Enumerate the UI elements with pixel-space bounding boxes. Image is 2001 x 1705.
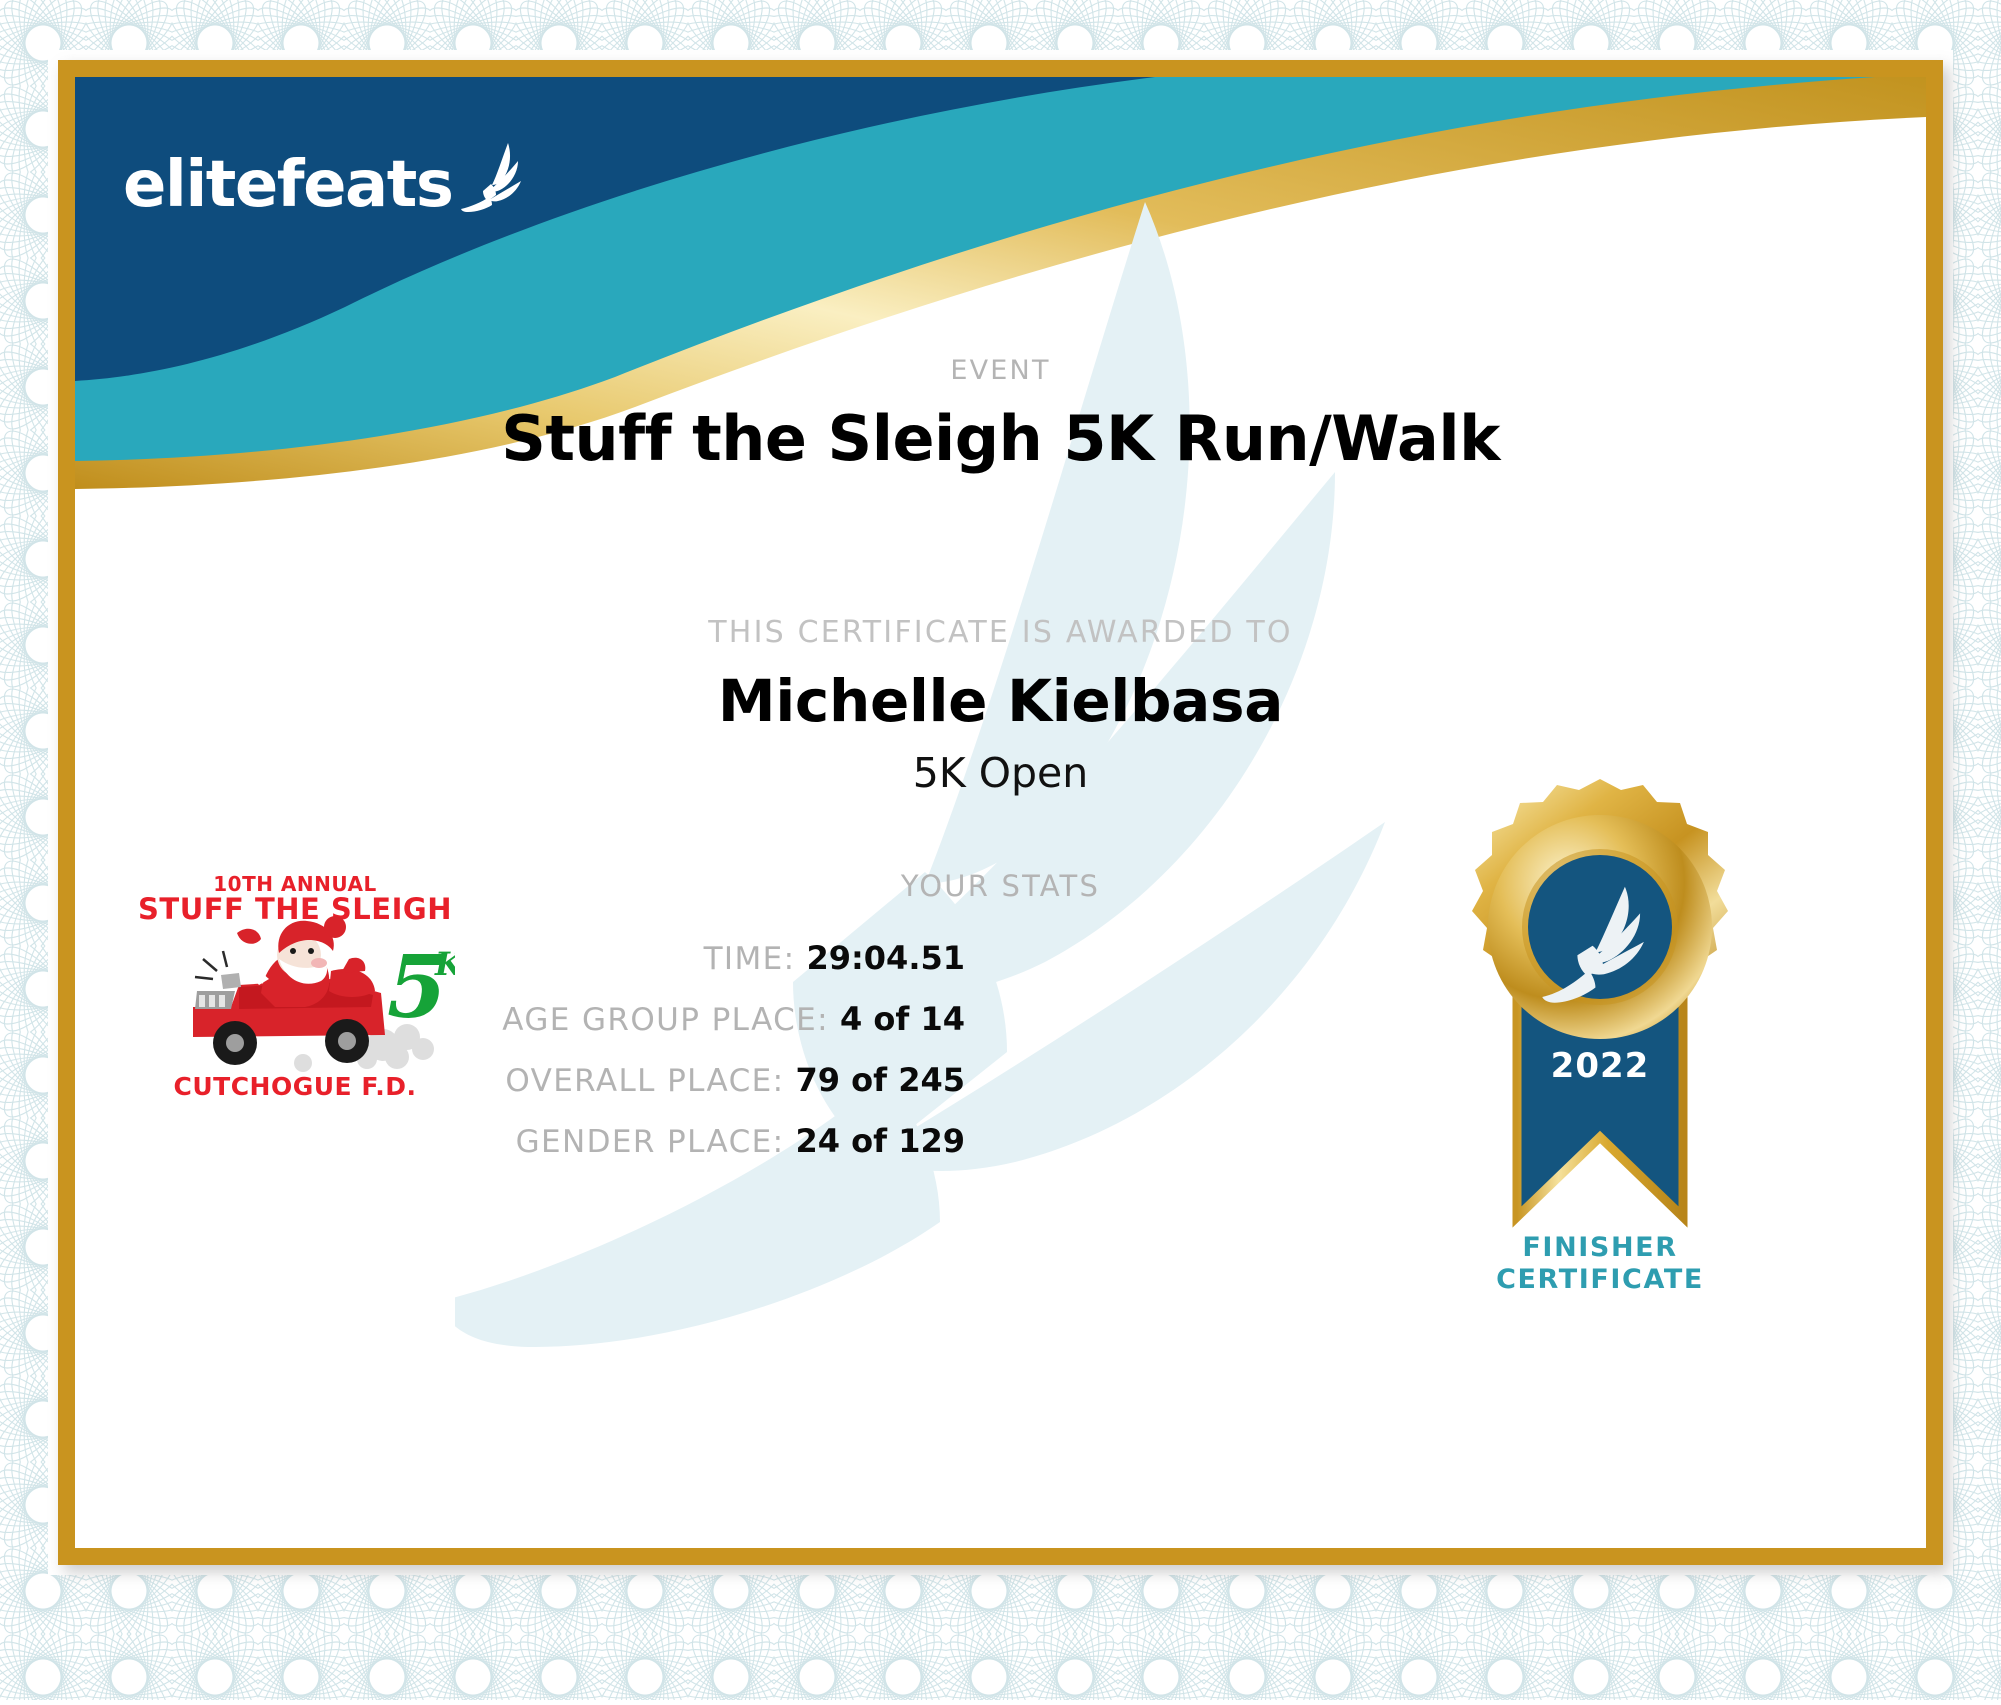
medal-year-text: 2022 [1551, 1046, 1650, 1086]
light-flash-icon [195, 951, 227, 979]
recipient-name: Michelle Kielbasa [75, 667, 1926, 735]
stat-label-time: TIME: [704, 941, 796, 977]
stat-row-overall-place: OVERALL PLACE: 79 of 245 [405, 1061, 965, 1099]
awarded-to-label: THIS CERTIFICATE IS AWARDED TO [75, 615, 1926, 650]
certificate-frame: elitefeats EVEN [58, 60, 1943, 1565]
finisher-caption-line2: CERTIFICATE [1455, 1264, 1745, 1296]
stat-value-age-group-place: 4 of 14 [840, 1000, 965, 1038]
brand-name: elitefeats [123, 153, 452, 217]
certificate-content: EVENT Stuff the Sleigh 5K Run/Walk THIS … [75, 77, 1926, 1548]
medal-starburst [1472, 779, 1728, 1039]
stat-row-time: TIME: 29:04.51 [405, 939, 965, 977]
race-logo-org-text: CUTCHOGUE F.D. [174, 1072, 417, 1101]
event-title: Stuff the Sleigh 5K Run/Walk [75, 402, 1926, 475]
stat-value-gender-place: 24 of 129 [795, 1122, 965, 1160]
stat-label-age-group-place: AGE GROUP PLACE: [502, 1002, 829, 1038]
stat-label-overall-place: OVERALL PLACE: [505, 1063, 784, 1099]
stats-list: TIME: 29:04.51 AGE GROUP PLACE: 4 of 14 … [405, 939, 965, 1183]
winged-foot-icon [458, 139, 528, 217]
stat-label-gender-place: GENDER PLACE: [516, 1124, 785, 1160]
certificate-paper: elitefeats EVEN [75, 77, 1926, 1548]
stat-row-gender-place: GENDER PLACE: 24 of 129 [405, 1122, 965, 1160]
event-label: EVENT [75, 355, 1926, 386]
finisher-caption: FINISHER CERTIFICATE [1455, 1232, 1745, 1296]
stat-value-time: 29:04.51 [806, 939, 965, 977]
stat-value-overall-place: 79 of 245 [795, 1061, 965, 1099]
race-logo-distance-unit-text: K [434, 945, 455, 983]
race-logo-title-text: STUFF THE SLEIGH [138, 892, 452, 926]
stat-row-age-group-place: AGE GROUP PLACE: 4 of 14 [405, 1000, 965, 1038]
race-event-logo: 10TH ANNUAL STUFF THE SLEIGH 5 K [135, 867, 455, 1107]
finisher-caption-line1: FINISHER [1455, 1232, 1745, 1264]
finisher-medal: 2022 [1455, 777, 1745, 1277]
brand-logo: elitefeats [123, 139, 528, 217]
